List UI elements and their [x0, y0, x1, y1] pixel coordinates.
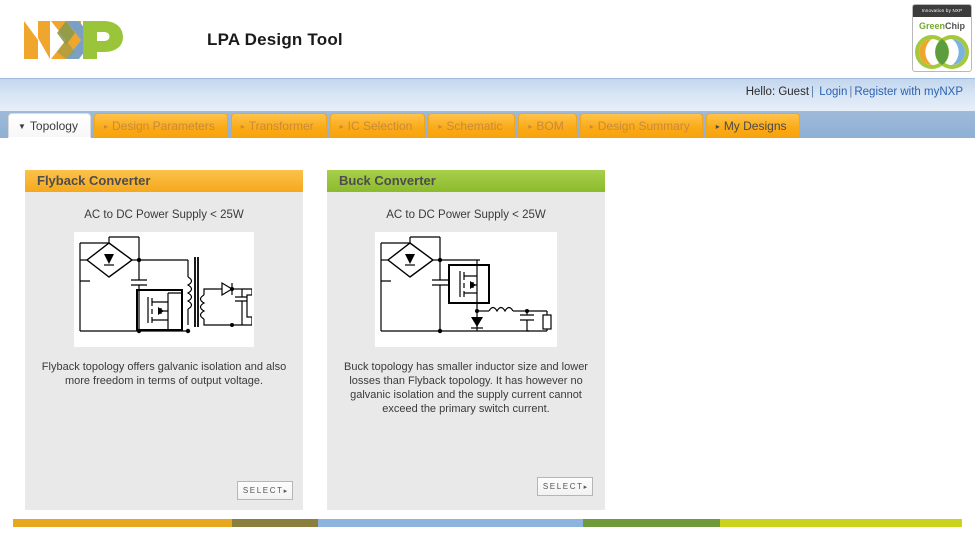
greeting-text: Hello: Guest	[746, 86, 809, 98]
chevron-right-icon: ▸	[528, 122, 532, 131]
login-bar: Hello: Guest| Login|Register with myNXP	[0, 78, 975, 111]
topology-card-flyback[interactable]: Flyback Converter AC to DC Power Supply …	[25, 170, 303, 510]
tab-label: BOM	[536, 119, 563, 133]
card-title-flyback: Flyback Converter	[25, 170, 303, 192]
tab-label: IC Selection	[348, 119, 413, 133]
stripe-segment-0	[13, 519, 232, 527]
chevron-right-icon: ▸	[590, 122, 594, 131]
tab-topology[interactable]: ▼Topology	[8, 113, 91, 138]
nxp-logo[interactable]	[20, 18, 130, 62]
login-link[interactable]: Login	[819, 86, 847, 98]
chevron-right-icon: ▸	[241, 122, 245, 131]
tab-label: Design Summary	[598, 119, 690, 133]
greenchip-name-chip: Chip	[945, 21, 965, 31]
chevron-right-icon: ▸	[716, 122, 720, 131]
main-tab-bar: ▼Topology▸Design Parameters▸Transformer▸…	[0, 111, 975, 138]
chevron-right-icon: ▸	[284, 488, 288, 495]
chevron-right-icon: ▸	[584, 484, 588, 491]
tab-design-summary[interactable]: ▸Design Summary	[580, 113, 703, 138]
footer-color-stripe	[13, 519, 962, 527]
stripe-segment-3	[583, 519, 720, 527]
lpa-design-tool-page: LPA Design Tool Innovation by NXP GreenC…	[0, 0, 975, 534]
greenchip-logo-art	[913, 33, 971, 71]
stripe-segment-1	[232, 519, 318, 527]
greenchip-rings-icon	[913, 33, 971, 71]
card-description-flyback: Flyback topology offers galvanic isolati…	[39, 360, 289, 388]
chevron-down-icon: ▼	[18, 122, 26, 131]
main-content: Flyback Converter AC to DC Power Supply …	[0, 138, 975, 516]
tab-ic-selection[interactable]: ▸IC Selection	[330, 113, 426, 138]
chevron-right-icon: ▸	[340, 122, 344, 131]
buck-converter-schematic	[375, 232, 557, 347]
greenchip-tagline: Innovation by NXP	[913, 5, 971, 17]
card-description-buck: Buck topology has smaller inductor size …	[341, 360, 591, 416]
tab-transformer[interactable]: ▸Transformer	[231, 113, 327, 138]
flyback-converter-schematic	[74, 232, 254, 347]
buck-schematic-svg	[377, 235, 555, 345]
card-subtitle-buck: AC to DC Power Supply < 25W	[327, 209, 605, 221]
tab-list: ▼Topology▸Design Parameters▸Transformer▸…	[8, 113, 803, 138]
register-link[interactable]: Register with myNXP	[854, 86, 963, 98]
page-title: LPA Design Tool	[207, 30, 343, 50]
tab-label: My Designs	[724, 119, 787, 133]
stripe-segment-2	[318, 519, 583, 527]
nxp-logo-svg	[20, 18, 130, 62]
tab-label: Schematic	[446, 119, 502, 133]
tab-schematic[interactable]: ▸Schematic	[428, 113, 515, 138]
card-subtitle-flyback: AC to DC Power Supply < 25W	[25, 209, 303, 221]
chevron-right-icon: ▸	[438, 122, 442, 131]
tab-my-designs[interactable]: ▸My Designs	[706, 113, 800, 138]
stripe-segment-4	[720, 519, 962, 527]
select-button-buck-label: SELECT	[543, 482, 584, 491]
greenchip-name-green: Green	[919, 21, 945, 31]
chevron-right-icon: ▸	[104, 122, 108, 131]
tab-design-parameters[interactable]: ▸Design Parameters	[94, 113, 228, 138]
tab-label: Topology	[30, 119, 78, 133]
flyback-schematic-svg	[76, 235, 252, 345]
login-links: Hello: Guest| Login|Register with myNXP	[746, 86, 963, 98]
page-header: LPA Design Tool Innovation by NXP GreenC…	[0, 0, 975, 78]
select-button-flyback-label: SELECT	[243, 486, 284, 495]
select-button-flyback[interactable]: SELECT▸	[237, 481, 293, 500]
topology-card-buck[interactable]: Buck Converter AC to DC Power Supply < 2…	[327, 170, 605, 510]
tab-bom[interactable]: ▸BOM	[518, 113, 576, 138]
greenchip-badge: Innovation by NXP GreenChip	[912, 4, 972, 72]
select-button-buck[interactable]: SELECT▸	[537, 477, 593, 496]
card-title-buck: Buck Converter	[327, 170, 605, 192]
tab-label: Design Parameters	[112, 119, 215, 133]
greeting-separator: |	[809, 86, 816, 98]
tab-label: Transformer	[249, 119, 314, 133]
page-footer	[0, 516, 975, 534]
greenchip-name: GreenChip	[913, 17, 971, 33]
